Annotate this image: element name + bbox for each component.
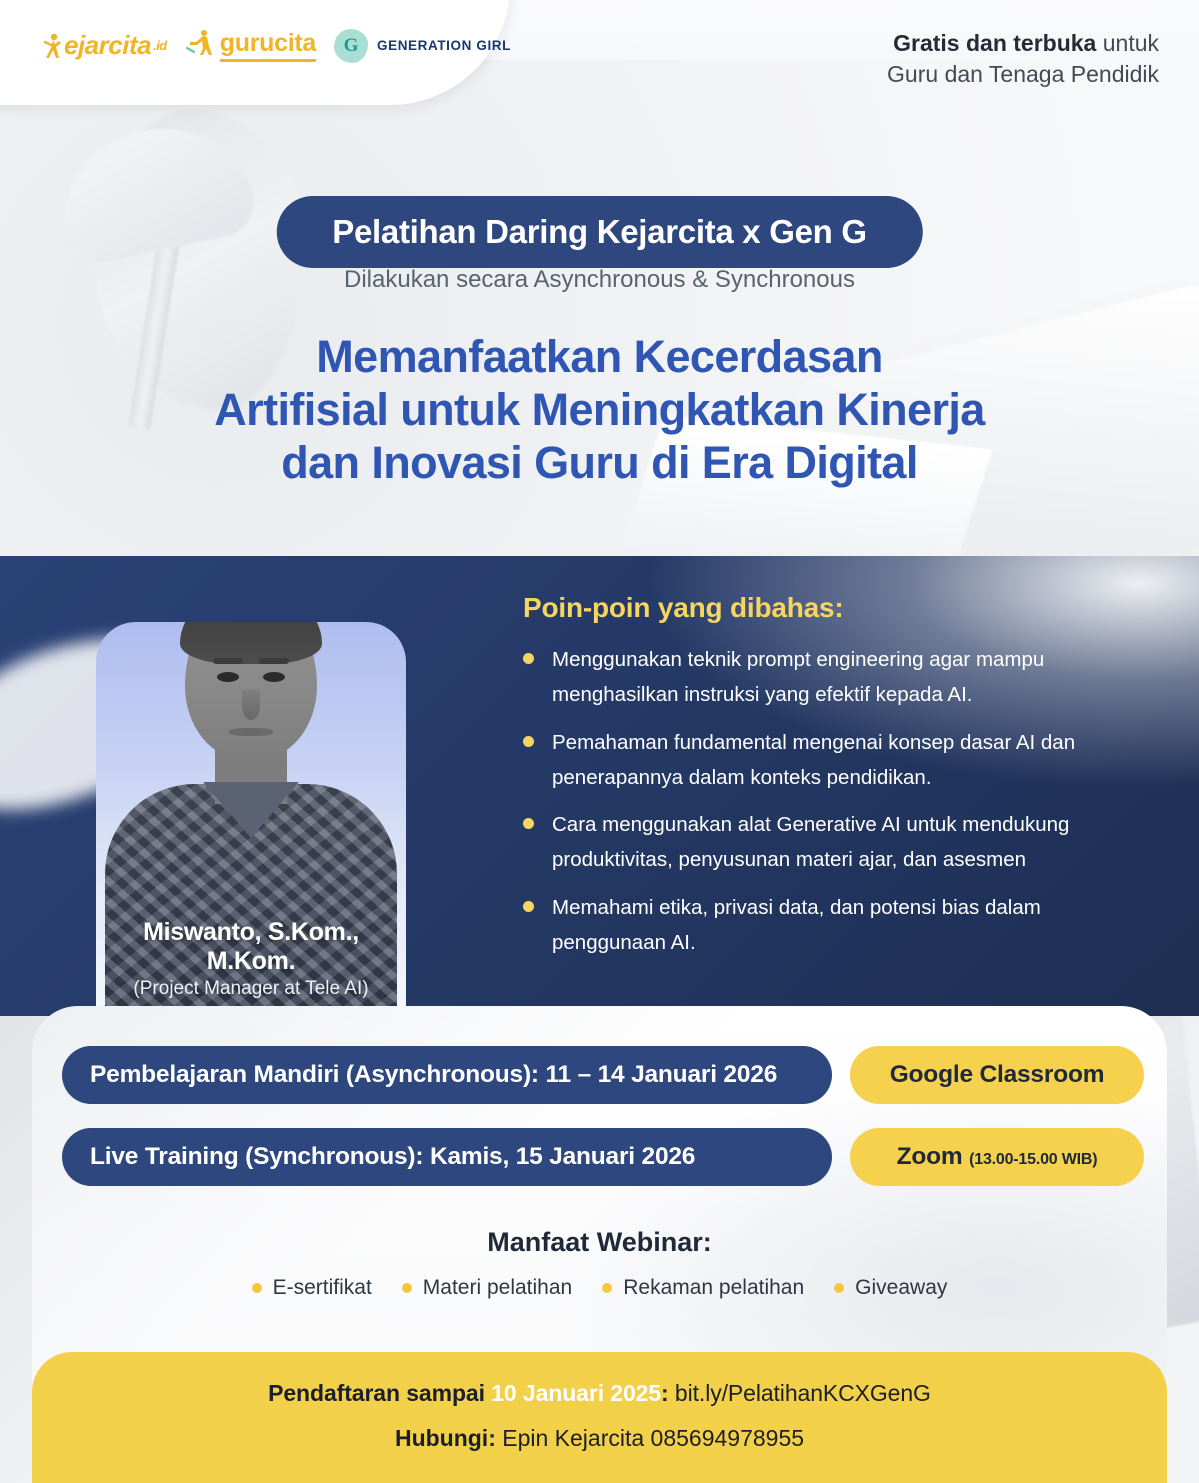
event-headline: Memanfaatkan Kecerdasan Artifisial untuk… xyxy=(0,330,1199,489)
topic-item: Memahami etika, privasi data, dan potens… xyxy=(523,890,1153,961)
bullet-dot-icon xyxy=(402,1283,412,1293)
registration-colon: : xyxy=(661,1380,675,1406)
registration-deadline: 10 Januari 2025 xyxy=(491,1380,661,1406)
topics-list: Poin-poin yang dibahas: Menggunakan tekn… xyxy=(523,592,1153,972)
speaker-brow-right xyxy=(259,658,289,664)
contact-value: Epin Kejarcita 085694978955 xyxy=(502,1425,804,1451)
speaker-hair xyxy=(180,622,322,664)
logo-row: ejarcita .id gurucita G GENERATION GIRL xyxy=(42,28,511,63)
bullet-dot-icon xyxy=(252,1283,262,1293)
kejarcita-logo-text: ejarcita xyxy=(64,30,151,61)
registration-label: Pendaftaran sampai xyxy=(268,1380,491,1406)
speaker-eye-right xyxy=(263,672,285,682)
topic-item-text: Menggunakan teknik prompt engineering ag… xyxy=(552,642,1153,713)
schedule-platform-time: (13.00-15.00 WIB) xyxy=(969,1151,1097,1168)
bullet-dot-icon xyxy=(523,653,534,664)
bullet-dot-icon xyxy=(523,736,534,747)
kejarcita-logo-suffix: .id xyxy=(153,38,167,53)
benefit-item-text: Rekaman pelatihan xyxy=(623,1276,804,1300)
topic-item-text: Cara menggunakan alat Generative AI untu… xyxy=(552,807,1153,878)
topic-item: Pemahaman fundamental mengenai konsep da… xyxy=(523,725,1153,796)
event-subtitle: Dilakukan secara Asynchronous & Synchron… xyxy=(0,266,1199,294)
schedule-label-asynchronous: Pembelajaran Mandiri (Asynchronous): 11 … xyxy=(62,1046,832,1104)
speaker-name: Miswanto, S.Kom., M.Kom. xyxy=(96,918,406,976)
benefit-item-text: E-sertifikat xyxy=(273,1276,372,1300)
generation-girl-logo: G GENERATION GIRL xyxy=(334,29,511,63)
gurucita-logo: gurucita xyxy=(185,28,316,63)
speaker-eye-left xyxy=(217,672,239,682)
schedule-row-synchronous: Live Training (Synchronous): Kamis, 15 J… xyxy=(62,1128,1144,1186)
benefit-item: Giveaway xyxy=(834,1276,947,1300)
event-headline-line2: Artifisial untuk Meningkatkan Kinerja xyxy=(0,383,1199,436)
registration-link[interactable]: bit.ly/PelatihanKCXGenG xyxy=(675,1380,931,1406)
schedule-platform-google-classroom[interactable]: Google Classroom xyxy=(850,1046,1144,1104)
speaker-role: (Project Manager at Tele AI) xyxy=(96,978,406,1000)
speaker-brow-left xyxy=(213,658,243,664)
benefit-item: E-sertifikat xyxy=(252,1276,372,1300)
gurucita-logo-text: gurucita xyxy=(220,29,316,62)
generation-girl-g-icon: G xyxy=(334,29,368,63)
bullet-dot-icon xyxy=(834,1283,844,1293)
topic-item-text: Pemahaman fundamental mengenai konsep da… xyxy=(552,725,1153,796)
poster-root: ejarcita .id gurucita G GENERATION GIRL … xyxy=(0,0,1199,1483)
bullet-dot-icon xyxy=(523,818,534,829)
speaker-name-block: Miswanto, S.Kom., M.Kom. (Project Manage… xyxy=(96,918,406,1000)
contact-line: Hubungi: Epin Kejarcita 085694978955 xyxy=(32,1425,1167,1452)
benefit-item: Materi pelatihan xyxy=(402,1276,572,1300)
registration-line: Pendaftaran sampai 10 Januari 2025: bit.… xyxy=(32,1380,1167,1407)
benefit-item-text: Materi pelatihan xyxy=(423,1276,572,1300)
bullet-dot-icon xyxy=(602,1283,612,1293)
benefits-title: Manfaat Webinar: xyxy=(0,1227,1199,1258)
benefits-list: E-sertifikat Materi pelatihan Rekaman pe… xyxy=(0,1276,1199,1300)
gurucita-figure-icon xyxy=(185,28,215,63)
event-headline-line3: dan Inovasi Guru di Era Digital xyxy=(0,436,1199,489)
speaker-mouth xyxy=(229,728,273,736)
schedule-platform-name: Google Classroom xyxy=(890,1061,1105,1088)
free-and-open-note-line1: Gratis dan terbuka untuk xyxy=(887,28,1159,59)
schedule-platform-zoom[interactable]: Zoom (13.00-15.00 WIB) xyxy=(850,1128,1144,1186)
contact-label: Hubungi: xyxy=(395,1425,502,1451)
schedule-platform-name: Zoom xyxy=(897,1143,963,1170)
free-and-open-note-rest: untuk xyxy=(1096,30,1159,56)
event-title-pill: Pelatihan Daring Kejarcita x Gen G xyxy=(276,196,922,268)
bullet-dot-icon xyxy=(523,901,534,912)
topic-item-text: Memahami etika, privasi data, dan potens… xyxy=(552,890,1153,961)
kejarcita-figure-icon xyxy=(42,33,64,59)
free-and-open-note: Gratis dan terbuka untuk Guru dan Tenaga… xyxy=(887,28,1159,90)
topic-item: Menggunakan teknik prompt engineering ag… xyxy=(523,642,1153,713)
kejarcita-logo: ejarcita .id xyxy=(42,30,167,61)
free-and-open-note-line2: Guru dan Tenaga Pendidik xyxy=(887,59,1159,90)
topic-item: Cara menggunakan alat Generative AI untu… xyxy=(523,807,1153,878)
schedule-row-asynchronous: Pembelajaran Mandiri (Asynchronous): 11 … xyxy=(62,1046,1144,1104)
topics-list-title: Poin-poin yang dibahas: xyxy=(523,592,1153,624)
free-and-open-note-bold: Gratis dan terbuka xyxy=(893,30,1096,56)
generation-girl-logo-text: GENERATION GIRL xyxy=(377,38,511,53)
speaker-nose xyxy=(242,690,260,720)
schedule-label-synchronous: Live Training (Synchronous): Kamis, 15 J… xyxy=(62,1128,832,1186)
benefit-item-text: Giveaway xyxy=(855,1276,947,1300)
benefit-item: Rekaman pelatihan xyxy=(602,1276,804,1300)
event-headline-line1: Memanfaatkan Kecerdasan xyxy=(0,330,1199,383)
registration-footer: Pendaftaran sampai 10 Januari 2025: bit.… xyxy=(32,1352,1167,1483)
